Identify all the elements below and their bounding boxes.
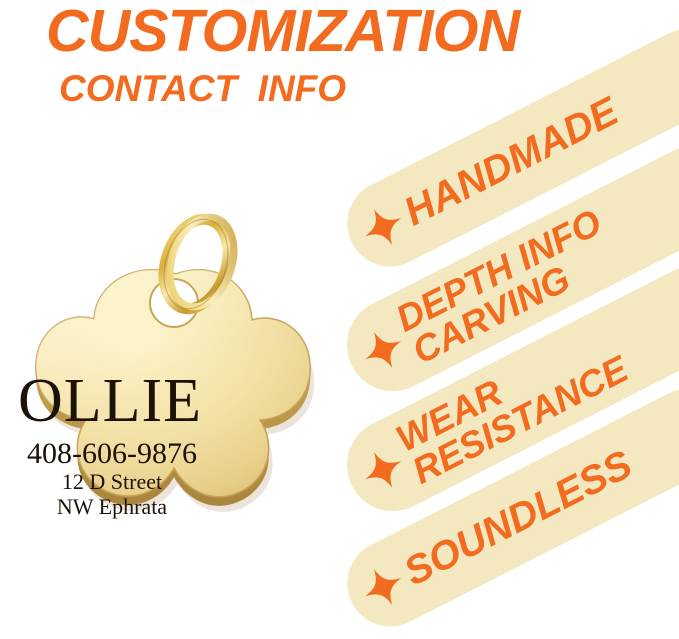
tag-engraving-phone: 408-606-9876	[0, 439, 286, 469]
page-title: CUSTOMIZATION	[46, 2, 519, 61]
pet-id-tag: OLLIE 408-606-9876 12 D Street NW Ephrat…	[0, 168, 348, 580]
page-subtitle: CONTACT INFO	[59, 70, 346, 107]
tag-engraving-address-line1: 12 D Street	[0, 471, 286, 493]
tag-engraving-name: OLLIE	[0, 370, 284, 432]
product-marketing-image: HANDMADE DEPTH INFO CARVING WEAR RESISTA…	[0, 0, 679, 639]
tag-engraving-address-line2: NW Ephrata	[0, 496, 286, 518]
